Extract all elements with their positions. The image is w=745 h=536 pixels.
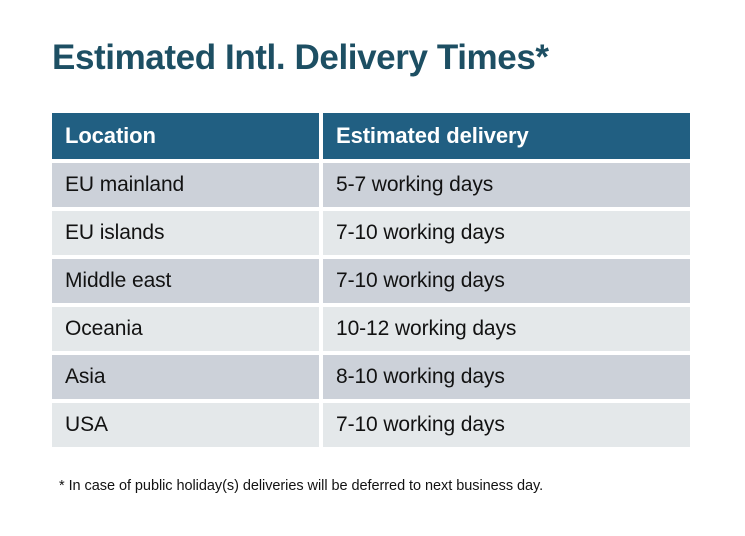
page-title: Estimated Intl. Delivery Times* — [52, 36, 549, 80]
footnote: * In case of public holiday(s) deliverie… — [59, 478, 543, 494]
table-row: USA 7-10 working days — [52, 403, 690, 447]
table-row: EU islands 7-10 working days — [52, 211, 690, 255]
cell-estimated-delivery: 5-7 working days — [323, 163, 690, 207]
table-row: Oceania 10-12 working days — [52, 307, 690, 351]
cell-location: USA — [52, 403, 319, 447]
cell-location: Middle east — [52, 259, 319, 303]
table-row: EU mainland 5-7 working days — [52, 163, 690, 207]
cell-estimated-delivery: 7-10 working days — [323, 211, 690, 255]
cell-location: EU mainland — [52, 163, 319, 207]
cell-estimated-delivery: 7-10 working days — [323, 403, 690, 447]
table-row: Middle east 7-10 working days — [52, 259, 690, 303]
cell-estimated-delivery: 10-12 working days — [323, 307, 690, 351]
cell-estimated-delivery: 8-10 working days — [323, 355, 690, 399]
delivery-times-page: Estimated Intl. Delivery Times* Location… — [0, 0, 745, 536]
cell-location: Asia — [52, 355, 319, 399]
cell-location: EU islands — [52, 211, 319, 255]
column-header-location: Location — [52, 113, 319, 159]
table-row: Asia 8-10 working days — [52, 355, 690, 399]
column-header-estimated-delivery: Estimated delivery — [323, 113, 690, 159]
cell-estimated-delivery: 7-10 working days — [323, 259, 690, 303]
table-header-row: Location Estimated delivery — [52, 113, 690, 159]
cell-location: Oceania — [52, 307, 319, 351]
delivery-times-table: Location Estimated delivery EU mainland … — [52, 113, 690, 447]
